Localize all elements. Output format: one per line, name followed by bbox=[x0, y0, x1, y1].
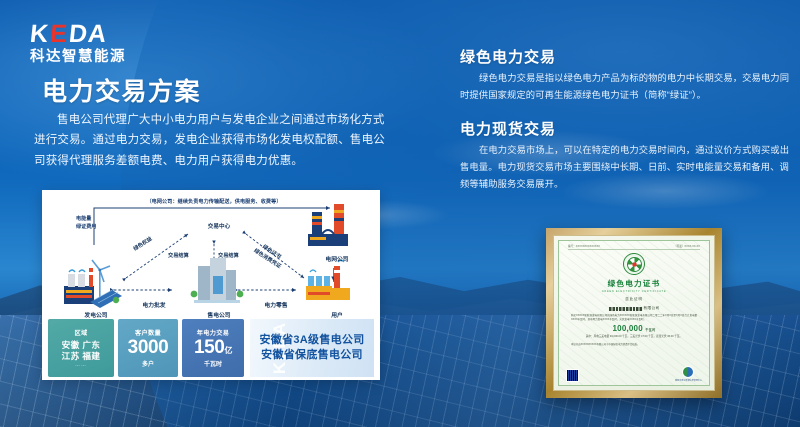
certificate-paragraph: 购买XXXXX新能源发电有限公司的绿色电力XXXXXX新能源发电有限公司二零二二… bbox=[571, 314, 697, 322]
stat-card-region: 区域 安徽 广东 江苏 福建 …… bbox=[48, 319, 114, 377]
stat-unit: 多户 bbox=[142, 359, 154, 368]
certificate-subtitle: 兹此证明 bbox=[625, 297, 643, 302]
certificate-issuer-logo: 国家可再生能源信息管理中心 bbox=[675, 366, 702, 382]
icon-user-factory bbox=[306, 260, 350, 300]
slide-root: KEDA 科达智慧能源 电力交易方案 售电公司代理广大中小电力用户与发电企业之间… bbox=[0, 0, 800, 427]
redacted-company-name bbox=[609, 307, 643, 311]
issuer-logo-icon bbox=[682, 366, 694, 378]
icon-power-plant bbox=[64, 268, 94, 304]
page-title: 电力交易方案 bbox=[42, 72, 201, 108]
diagram-note: （电网公司：继续负责电力传输配送，供电服务、收费等） bbox=[94, 198, 334, 205]
section-body-spot-trading: 在电力交易市场上，可以在特定的电力交易时间内，通过议价方式购买或出售电量。电力现… bbox=[460, 142, 790, 193]
stat-value-number: 150 bbox=[194, 337, 225, 358]
diagram-center-label: 交易中心 bbox=[182, 222, 256, 230]
stat-caption: 年电力交易 bbox=[197, 328, 229, 337]
stat-caption: 客户数量 bbox=[135, 328, 161, 337]
section-heading-spot-trading: 电力现货交易 bbox=[460, 118, 556, 139]
green-electricity-certificate: 编号：XXXXXXXXXXXXXX （签发）XXXX-XX-XX 绿色电力证书 … bbox=[558, 240, 710, 386]
certificate-frame: 编号：XXXXXXXXXXXXXX （签发）XXXX-XX-XX 绿色电力证书 … bbox=[546, 228, 722, 398]
section-body-green-trading: 绿色电力交易是指以绿色电力产品为标的物的电力中长期交易，交易电力同时提供国家规定… bbox=[460, 70, 790, 104]
stats-strip: 区域 安徽 广东 江苏 福建 …… 客户数量 3000 多户 年电力交易 150… bbox=[42, 316, 380, 380]
certificate-amount-value: 100,000 bbox=[613, 324, 643, 333]
certificate-issuer: 国家可再生能源信息管理中心 bbox=[675, 379, 702, 382]
certificate-company-suffix: 有限公司 bbox=[644, 306, 660, 311]
badge-line-2: 安徽省保底售电公司 bbox=[261, 348, 363, 363]
badge-line-1: 安徽省3A级售电公司 bbox=[259, 333, 364, 348]
certificate-topline: 编号：XXXXXXXXXXXXXX （签发）XXXX-XX-XX bbox=[568, 244, 700, 250]
diagram-node-grid: 电网公司 bbox=[306, 254, 368, 263]
certificate-detail: 其中：风电三美电量 49,000.00 千瓦，三美光伏 47.00 千瓦，直辖光… bbox=[570, 335, 699, 339]
diagram-card: （电网公司：继续负责电力传输配送，供电服务、收费等） 电能量 绿证费用 交易中心… bbox=[42, 190, 380, 380]
diagram-wholesale-label: 电力批发 bbox=[124, 300, 184, 309]
diagram-settle-left: 交易结算 bbox=[168, 252, 189, 259]
certificate-bottom-row: 国家可再生能源信息管理中心 bbox=[559, 366, 709, 382]
trading-flow-diagram: （电网公司：继续负责电力传输配送，供电服务、收费等） 电能量 绿证费用 交易中心… bbox=[42, 190, 380, 318]
stat-region-list: 安徽 广东 江苏 福建 bbox=[62, 340, 101, 360]
qr-code-icon bbox=[566, 369, 579, 382]
stat-card-volume: 年电力交易 150亿 千瓦时 bbox=[182, 319, 244, 377]
certificate-title: 绿色电力证书 bbox=[608, 278, 661, 289]
section-heading-green-trading: 绿色电力交易 bbox=[460, 46, 556, 67]
certificate-issue-date: （签发）XXXX-XX-XX bbox=[674, 244, 700, 248]
icon-solar-array bbox=[90, 289, 122, 308]
icon-seller-building bbox=[191, 258, 244, 303]
diagram-sub-label: 电能量 绿证费用 bbox=[76, 216, 96, 231]
stat-value: 3000 bbox=[128, 338, 169, 357]
certificate-amount-unit: 千瓦时 bbox=[645, 328, 655, 332]
certificate-frame-inner: 编号：XXXXXXXXXXXXXX （签发）XXXX-XX-XX 绿色电力证书 … bbox=[553, 235, 715, 391]
certificate-title-en: GREEN ELECTRICITY CERTIFICATE bbox=[602, 290, 667, 293]
stat-region-ellipsis: …… bbox=[75, 362, 87, 368]
stat-value-unit-inline: 亿 bbox=[224, 346, 232, 355]
diagram-retail-label: 电力零售 bbox=[246, 300, 306, 309]
icon-grid-company bbox=[308, 204, 348, 246]
stat-value: 150亿 bbox=[194, 338, 232, 357]
certificate-amount: 100,000 千瓦时 bbox=[613, 324, 656, 333]
diagram-settle-right: 交易结算 bbox=[218, 252, 239, 259]
badge-panel: KEDA 安徽省3A级售电公司 安徽省保底售电公司 bbox=[250, 319, 374, 377]
certificate-company: 有限公司 bbox=[609, 306, 660, 311]
left-column: 电力交易方案 售电公司代理广大中小电力用户与发电企业之间通过市场化方式进行交易。… bbox=[0, 0, 420, 427]
certificate-number: 编号：XXXXXXXXXXXXXX bbox=[568, 244, 600, 248]
stat-card-customers: 客户数量 3000 多户 bbox=[118, 319, 178, 377]
stat-unit: 千瓦时 bbox=[204, 359, 222, 368]
page-description: 售电公司代理广大中小电力用户与发电企业之间通过市场化方式进行交易。通过电力交易，… bbox=[34, 110, 386, 171]
certificate-footer: 本证书由XXXXXXXXXX有限公司于中国绿色电力消费平台核发。 bbox=[571, 343, 697, 347]
stat-caption: 区域 bbox=[75, 328, 88, 337]
certificate-seal-icon bbox=[623, 253, 645, 275]
